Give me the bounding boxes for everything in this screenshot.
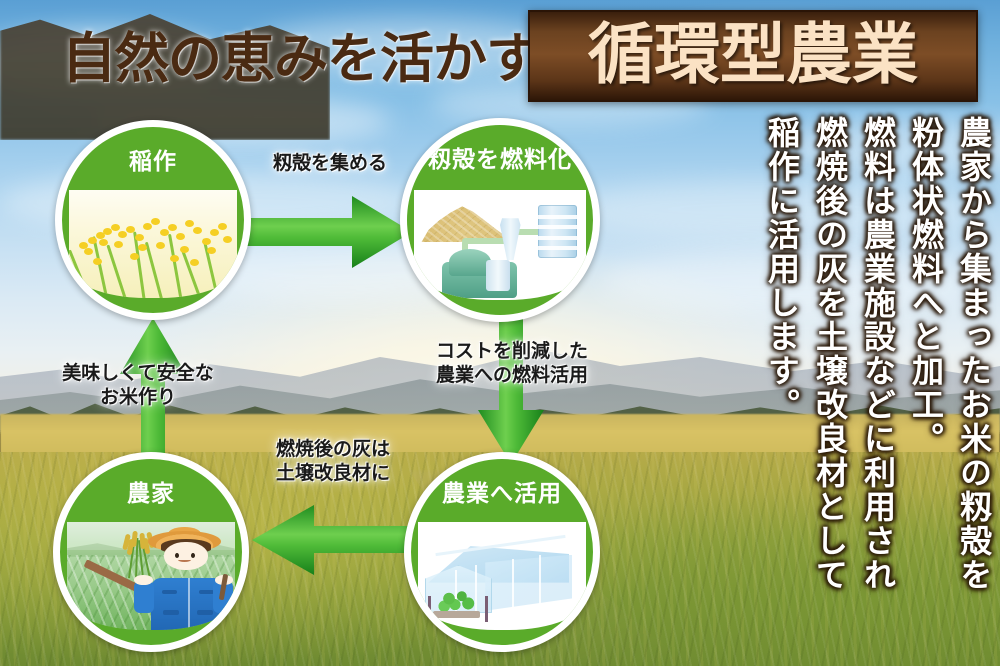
greenhouse-illustration [418,522,585,630]
fuel-plant-machinery-illustration [414,190,585,300]
face [164,542,208,570]
cyclone-separator [500,218,521,260]
vertical-text-column-1: 農家から集まったお米の籾殻を [956,116,990,656]
greenhouse-side-wall [485,555,572,611]
farmer-illustration [67,522,234,630]
vertical-text-column-5: 稲作に活用します。 [764,116,798,516]
collection-canister [486,260,510,291]
arrow-ash-to-soil [252,505,422,575]
vertical-text-column-3: 燃料は農業施設などに利用され [860,116,894,656]
left-hand [134,575,152,585]
greenhouse-plants [437,589,477,613]
arrow-label-collect-husks: 籾殻を集める [250,152,410,176]
node-circle: 籾殻を燃料化 [400,118,600,322]
node-label-husk-to-fuel: 籾殻を燃料化 [407,125,593,190]
node-circle: 稲作 [55,120,251,320]
cycle-node-farmer[interactable]: 農家 [53,452,249,652]
node-circle: 農家 [53,452,249,652]
grinder-hopper [449,249,492,275]
rice-field-illustration [69,190,236,298]
cycle-node-rice-cultivation[interactable]: 稲作 [55,120,251,320]
node-label-farmer: 農家 [60,459,242,522]
node-label-rice-cultivation: 稲作 [62,127,244,190]
vertical-text-column-2: 粉体状燃料へと加工。 [908,116,942,636]
arrow-label-ash-to-soil: 燃焼後の灰は 土壌改良材に [244,438,422,487]
arrow-collect-husks [244,196,412,268]
page-title-lead: 自然の恵みを活かす [62,24,502,94]
vertical-text-column-4: 燃焼後の灰を土壌改良材として [812,116,846,636]
page-title-box: 循環型農業 [528,10,978,102]
plant-tray [433,611,480,619]
cycle-node-use-in-agriculture[interactable]: 農業へ活用 [404,452,600,652]
infographic-poster: 自然の恵みを活かす 循環型農業 農家から集まったお米の籾殻を 粉体状燃料へと加工… [0,0,1000,666]
node-circle: 農業へ活用 [404,452,600,652]
arrow-label-fuel-to-agriculture: コストを削減した 農業への燃料活用 [404,340,620,389]
left-arm [134,581,154,613]
page-title-main: 循環型農業 [588,23,918,89]
silo-tank [538,205,577,258]
arrow-label-safe-rice: 美味しくて安全な お米作り [48,362,228,411]
node-label-use-in-agriculture: 農業へ活用 [411,459,593,522]
rice-husk-pile [421,198,510,242]
cycle-node-husk-to-fuel[interactable]: 籾殻を燃料化 [400,118,600,322]
